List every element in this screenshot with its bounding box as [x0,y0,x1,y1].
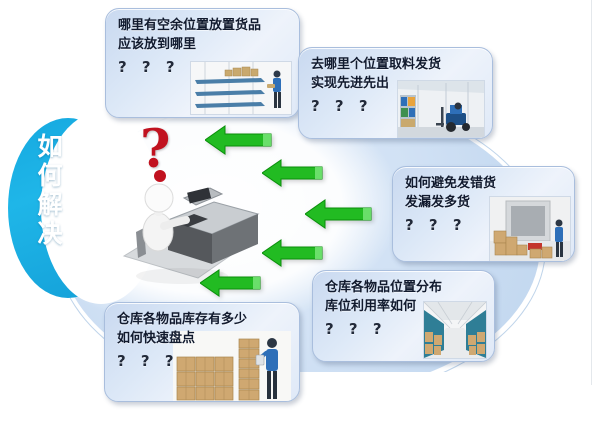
callout-location-distribution[interactable]: 仓库各物品位置分布 库位利用率如何 ? ? ? [312,270,495,362]
callout-1-line-2: 应该放到哪里 [118,36,289,55]
background-edge-line [591,0,592,385]
how-to-solve-label: 如 何 解 决 [30,132,70,248]
callout-2-text: 去哪里个位置取料发货 实现先进先出 ? ? ? [311,56,482,115]
background-right-edge [592,0,612,423]
callout-5-text: 仓库各物品库存有多少 如何快速盘点 ? ? ? [117,311,289,370]
callout-empty-location[interactable]: 哪里有空余位置放置货品 应该放到哪里 ? ? ? [105,8,300,118]
crescent-char-4: 决 [30,219,70,248]
callout-5-line-2: 如何快速盘点 [117,330,289,349]
callout-2-marks: ? ? ? [311,97,482,115]
callout-picking-fifo[interactable]: 去哪里个位置取料发货 实现先进先出 ? ? ? [298,47,493,139]
callout-4-line-2: 库位利用率如何 [325,298,484,317]
red-question-mark-icon: ? [140,124,170,176]
callout-5-line-1: 仓库各物品库存有多少 [117,311,289,330]
flow-arrow-3 [305,198,373,230]
background-bottom-fade [0,372,612,423]
callout-1-marks: ? ? ? [118,58,289,76]
flow-arrow-1 [205,124,273,156]
callout-3-line-1: 如何避免发错货 [405,175,564,194]
flow-arrow-2 [262,158,324,188]
callout-stock-count[interactable]: 仓库各物品库存有多少 如何快速盘点 ? ? ? [104,302,300,402]
callout-4-marks: ? ? ? [325,320,484,338]
callout-4-text: 仓库各物品位置分布 库位利用率如何 ? ? ? [325,279,484,338]
how-to-solve-crescent: 如 何 解 决 [8,118,128,298]
crescent-char-2: 何 [30,161,70,190]
flow-arrow-4 [262,238,324,268]
callout-2-line-1: 去哪里个位置取料发货 [311,56,482,75]
callout-4-line-1: 仓库各物品位置分布 [325,279,484,298]
diagram-canvas: 如 何 解 决 ? [0,0,612,423]
crescent-char-3: 解 [30,190,70,219]
callout-3-marks: ? ? ? [405,216,564,234]
crescent-char-1: 如 [30,132,70,161]
callout-3-text: 如何避免发错货 发漏发多货 ? ? ? [405,175,564,234]
callout-avoid-wrong-shipment[interactable]: 如何避免发错货 发漏发多货 ? ? ? [392,166,575,262]
callout-3-line-2: 发漏发多货 [405,194,564,213]
callout-1-text: 哪里有空余位置放置货品 应该放到哪里 ? ? ? [118,17,289,76]
callout-2-line-2: 实现先进先出 [311,75,482,94]
callout-5-marks: ? ? ? [117,352,289,370]
flow-arrow-5 [200,268,262,298]
callout-1-line-1: 哪里有空余位置放置货品 [118,17,289,36]
